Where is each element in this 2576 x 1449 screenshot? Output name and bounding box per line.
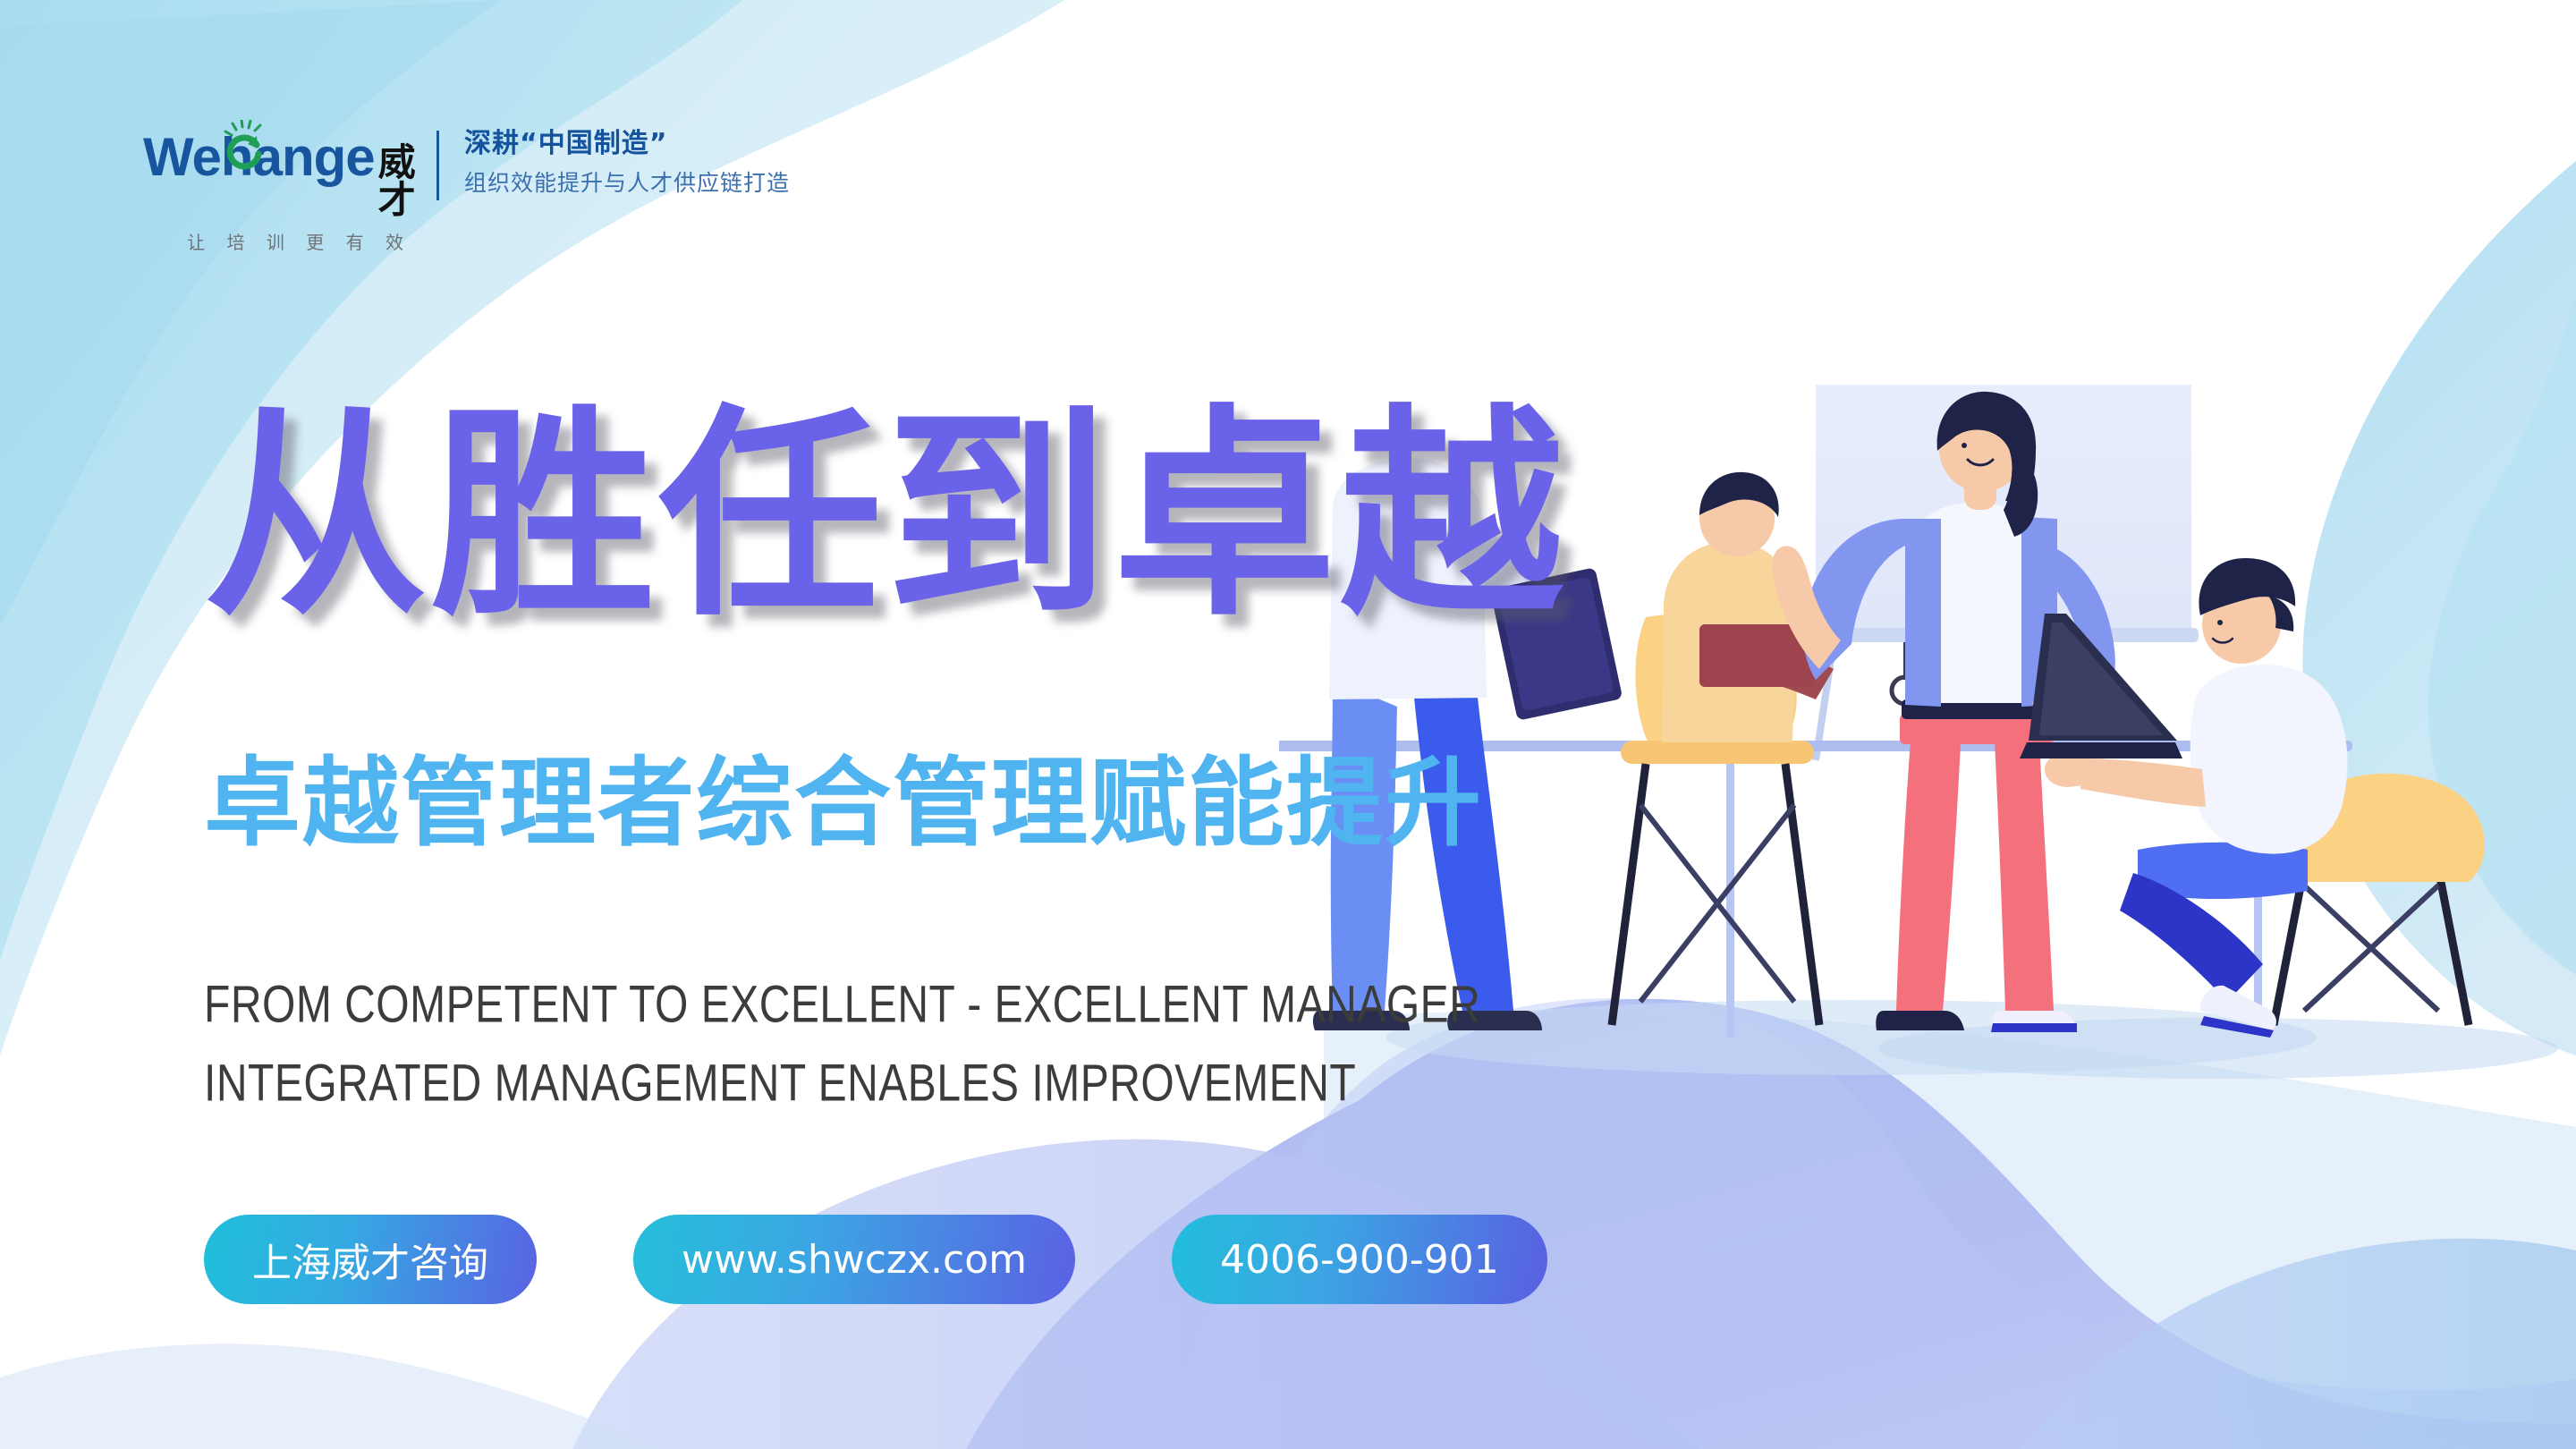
tagline-block: 深耕“中国制造” 组织效能提升与人才供应链打造 <box>464 125 790 197</box>
header-divider <box>436 131 439 200</box>
website-pill[interactable]: www.shwczx.com <box>633 1215 1075 1304</box>
logo-block[interactable]: We hange 威才 让 培 训 更 有 效 <box>143 125 411 254</box>
company-pill[interactable]: 上海威才咨询 <box>204 1215 537 1304</box>
seated-person-center <box>1612 472 1834 1025</box>
english-line-2: INTEGRATED MANAGEMENT ENABLES IMPROVEMEN… <box>204 1054 1356 1114</box>
brand-header: We hange 威才 让 培 训 更 有 效 <box>143 125 790 254</box>
contact-pill-group: 上海威才咨询 www.shwczx.com 4006-900-901 <box>204 1215 1547 1304</box>
english-line-1: FROM COMPETENT TO EXCELLENT - EXCELLENT … <box>204 975 1480 1035</box>
hero-headline: 从胜任到卓越 <box>204 404 1567 628</box>
phone-pill[interactable]: 4006-900-901 <box>1172 1215 1547 1304</box>
logo-text-we: We <box>143 131 221 184</box>
logo-slogan: 让 培 训 更 有 效 <box>143 228 411 254</box>
logo-text-chinese: 威才 <box>378 144 415 219</box>
hero-subheadline: 卓越管理者综合管理赋能提升 <box>204 756 1483 852</box>
tagline-main: 深耕“中国制造” <box>464 127 790 161</box>
tagline-sub: 组织效能提升与人才供应链打造 <box>464 170 790 197</box>
logo-wordmark: We hange 威才 <box>143 125 411 219</box>
poster-canvas: We hange 威才 让 培 训 更 有 效 <box>0 0 2576 1449</box>
